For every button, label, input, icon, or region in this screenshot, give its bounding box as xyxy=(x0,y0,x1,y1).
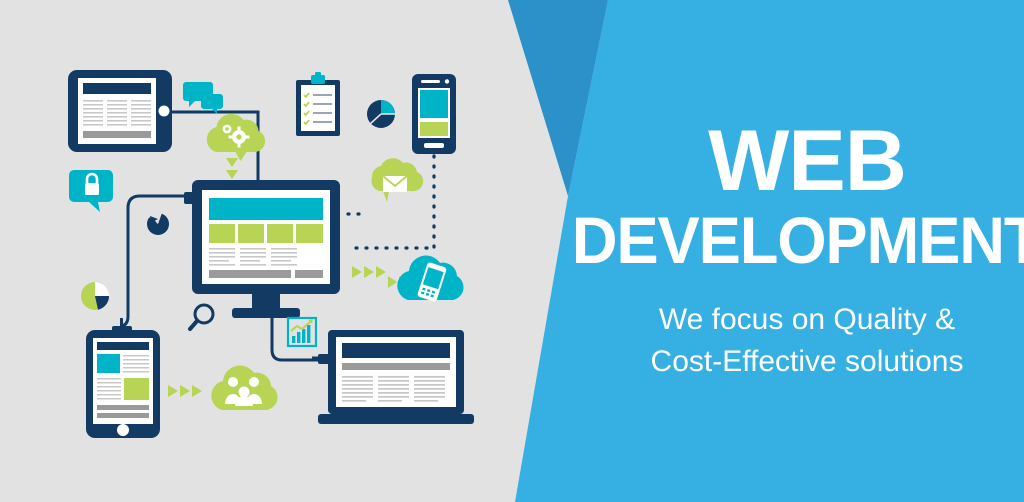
smartphone-camera xyxy=(445,79,449,83)
tablet-portrait-teal-box xyxy=(97,354,120,373)
clipboard-clip xyxy=(311,75,325,84)
tablet-portrait-header-bar xyxy=(97,342,149,350)
clipboard-checklist-icon[interactable] xyxy=(296,72,340,136)
cloud-users-icon[interactable] xyxy=(211,366,277,410)
subheadline: We focus on Quality & Cost-Effective sol… xyxy=(651,299,964,384)
magnifying-glass-icon[interactable] xyxy=(190,305,213,329)
green-arrow-down-1 xyxy=(226,158,238,167)
chat-bubbles-icon[interactable] xyxy=(183,82,223,114)
laptop-header-bar xyxy=(342,343,450,358)
green-arrow-right-1 xyxy=(352,266,362,278)
laptop-base xyxy=(318,414,474,424)
green-arrow-right-5 xyxy=(180,385,190,397)
cloud-gear-small-hole xyxy=(225,127,228,130)
envelope-speech-bubble-icon[interactable] xyxy=(372,158,424,202)
green-arrow-cloud-1 xyxy=(388,276,397,288)
tablet-landscape-footer-bar xyxy=(83,131,151,138)
green-arrow-right-2 xyxy=(364,266,374,278)
clipboard-clip-top xyxy=(315,72,321,76)
tablet-landscape-icon[interactable] xyxy=(68,70,172,152)
magnifier-handle xyxy=(190,321,197,329)
cloud-gear-big-hole xyxy=(236,134,241,139)
pie-chart-teal-slice xyxy=(381,100,395,114)
green-arrow-down-2 xyxy=(226,170,238,179)
cloud-gears-icon[interactable] xyxy=(207,114,265,161)
tablet-portrait-footer-bar-2 xyxy=(97,413,149,418)
headline-text-block: WEB DEVELOPMENT We focus on Quality & Co… xyxy=(590,0,1024,502)
smartphone-screen-green-area xyxy=(420,122,448,136)
tablet-landscape-home-button xyxy=(159,106,170,117)
lock-speech-bubble-icon[interactable] xyxy=(69,170,113,212)
pie-green-white-slice xyxy=(95,282,109,296)
desktop-monitor-icon[interactable] xyxy=(184,180,340,318)
tablet-landscape-header-bar xyxy=(83,83,151,94)
pie-chart-green-icon[interactable] xyxy=(81,282,109,310)
monitor-footer-bar-left xyxy=(209,270,291,278)
monitor-footer-bar-right xyxy=(295,270,323,278)
cursor-pie-icon[interactable] xyxy=(147,212,169,235)
green-arrow-right-3 xyxy=(376,266,386,278)
tablet-portrait-green-box xyxy=(124,378,149,400)
banner-root: WEB DEVELOPMENT We focus on Quality & Co… xyxy=(0,0,1024,502)
subheadline-line-1: We focus on Quality & xyxy=(651,299,964,342)
page-title-line-1: WEB xyxy=(708,120,906,203)
green-arrow-right-6 xyxy=(192,385,202,397)
green-arrow-right-4 xyxy=(168,385,178,397)
smartphone-icon[interactable] xyxy=(412,74,456,154)
cloud-mobile-icon[interactable] xyxy=(397,256,463,303)
smartphone-home-button xyxy=(424,143,444,148)
bar-chart-growth-icon[interactable] xyxy=(288,318,316,346)
monitor-header-bar xyxy=(209,198,323,220)
page-title-line-2: DEVELOPMENT xyxy=(572,207,1024,273)
tablet-portrait-home-button xyxy=(117,424,129,436)
tablet-portrait-icon[interactable] xyxy=(86,318,160,438)
lock-body xyxy=(85,183,99,195)
laptop-icon[interactable] xyxy=(318,330,474,424)
pie-chart-icon[interactable] xyxy=(367,100,395,128)
monitor-base xyxy=(232,308,300,318)
smartphone-screen-teal-area xyxy=(420,90,448,118)
subheadline-line-2: Cost-Effective solutions xyxy=(651,341,964,384)
monitor-neck xyxy=(252,294,280,310)
laptop-gray-bar xyxy=(342,363,450,370)
smartphone-speaker xyxy=(421,80,440,83)
tablet-portrait-footer-bar-1 xyxy=(97,405,149,410)
